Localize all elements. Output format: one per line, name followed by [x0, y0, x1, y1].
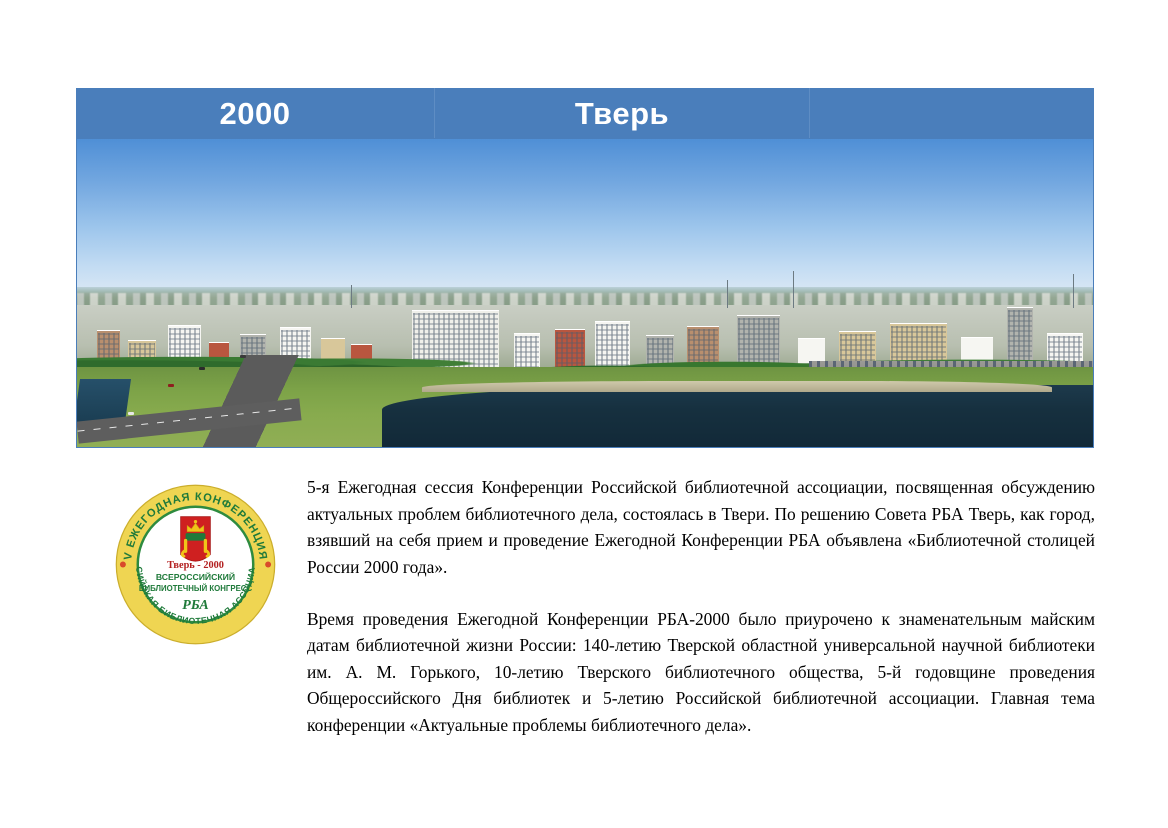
crown-orb	[194, 520, 197, 523]
emblem-graphic: V ЕЖЕГОДНАЯ КОНФЕРЕНЦИЯ РОССИЙСКАЯ БИБЛИ…	[113, 482, 278, 647]
header-year-label: 2000	[220, 98, 291, 129]
emblem-center-line1: Тверь - 2000	[167, 560, 224, 571]
header-band: 2000 Тверь	[76, 88, 1094, 138]
header-cell-year: 2000	[76, 88, 435, 138]
paragraph-1: 5-я Ежегодная сессия Конференции Российс…	[307, 474, 1095, 581]
coat-of-arms	[181, 517, 211, 562]
panorama-photo-frame	[76, 138, 1094, 448]
emblem-center-line4: РБА	[182, 598, 208, 613]
river-water	[382, 385, 1093, 447]
quay-wall	[422, 381, 1052, 392]
car	[199, 367, 205, 370]
paragraph-2: Время проведения Ежегодной Конференции Р…	[307, 606, 1095, 739]
header-cell-blank	[810, 88, 1094, 138]
emblem-dot-right	[265, 562, 271, 568]
emblem-dot-left	[120, 562, 126, 568]
header-city-label: Тверь	[575, 98, 669, 129]
antenna-mast	[1073, 274, 1074, 308]
antenna-mast	[793, 271, 794, 308]
emblem-center-line3: БИБЛИОТЕЧНЫЙ КОНГРЕСС	[139, 584, 253, 593]
antenna-mast	[727, 280, 728, 308]
throne-seat	[186, 533, 206, 540]
conference-emblem: V ЕЖЕГОДНАЯ КОНФЕРЕНЦИЯ РОССИЙСКАЯ БИБЛИ…	[113, 482, 278, 647]
car	[128, 412, 134, 415]
antenna-mast	[351, 285, 352, 308]
article-body: 5-я Ежегодная сессия Конференции Российс…	[307, 474, 1095, 739]
panorama-photo	[77, 139, 1093, 447]
header-cell-city: Тверь	[435, 88, 810, 138]
car	[168, 384, 174, 387]
car	[240, 355, 246, 358]
sky-layer	[77, 139, 1093, 299]
emblem-center-line2: ВСЕРОССИЙСКИЙ	[156, 571, 235, 582]
